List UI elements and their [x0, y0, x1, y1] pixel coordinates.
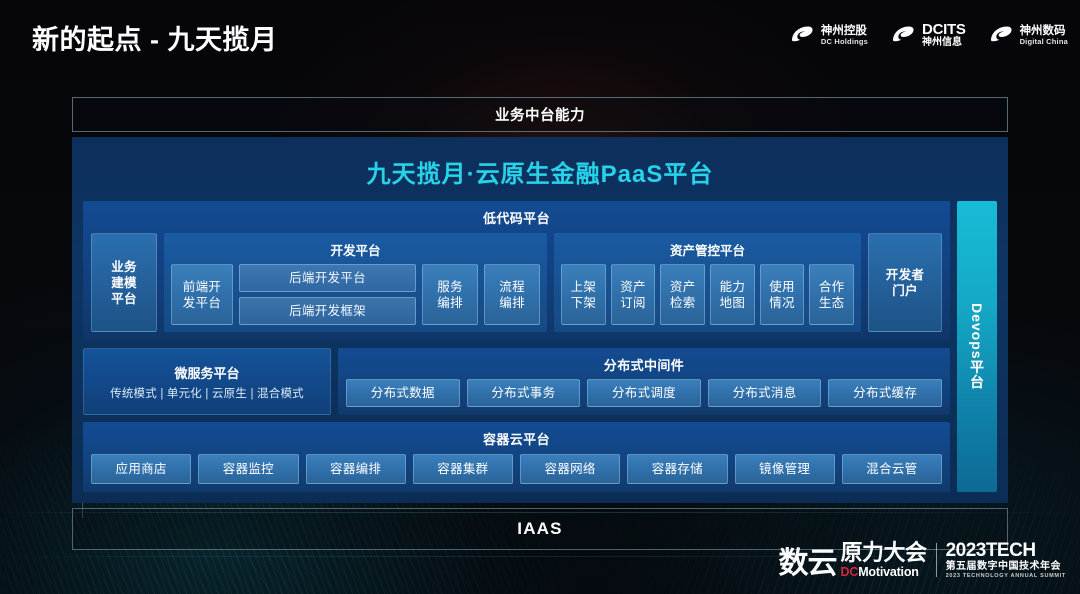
logo-row: 神州控股 DC Holdings DCITS 神州信息 神州数码 Digital… — [789, 22, 1068, 49]
conference-divider — [936, 543, 937, 577]
paas-left-stack: 低代码平台 业务 建模 平台 开发平台 — [83, 201, 950, 492]
card-usage-status[interactable]: 使用 情况 — [760, 264, 805, 325]
card-business-modeling-platform[interactable]: 业务 建模 平台 — [91, 233, 157, 332]
card-line: 发平台 — [183, 296, 221, 310]
card-line: 资产 — [620, 280, 646, 294]
card-line: 生态 — [819, 296, 845, 310]
card-container-monitoring[interactable]: 容器监控 — [198, 454, 298, 484]
card-asset-search[interactable]: 资产 检索 — [660, 264, 705, 325]
conference-logo-main: 数云 原力大会 DCMotivation — [779, 542, 927, 579]
backend-card-column: 后端开发平台 后端开发框架 — [239, 264, 416, 325]
card-line: 门户 — [892, 284, 918, 298]
microservice-platform-block[interactable]: 微服务平台 传统模式 | 单元化 | 云原生 | 混合模式 — [83, 348, 331, 415]
logo-label-cn: 神州数码 — [1020, 25, 1068, 37]
slide-header: 新的起点 - 九天揽月 神州控股 DC Holdings DCITS 神州信息 — [0, 0, 1080, 70]
card-image-management[interactable]: 镜像管理 — [735, 454, 835, 484]
card-line: 检索 — [670, 296, 696, 310]
conference-summit-block: 2023TECH 第五届数字中国技术年会 2023 TECHNOLOGY ANN… — [946, 541, 1066, 580]
page-title: 新的起点 - 九天揽月 — [32, 18, 278, 57]
card-line: 流程 — [499, 280, 525, 294]
lowcode-inner-row: 业务 建模 平台 开发平台 前端开 发平 — [91, 233, 942, 332]
card-container-storage[interactable]: 容器存储 — [627, 454, 727, 484]
conference-name-en: DCMotivation — [841, 566, 927, 579]
card-capability-map[interactable]: 能力 地图 — [710, 264, 755, 325]
card-line: 编排 — [499, 296, 525, 310]
card-line: 地图 — [720, 296, 746, 310]
paas-platform-title: 九天揽月·云原生金融PaaS平台 — [83, 147, 997, 201]
card-distributed-scheduling[interactable]: 分布式调度 — [587, 379, 701, 407]
card-frontend-dev-platform[interactable]: 前端开 发平台 — [171, 264, 233, 325]
card-line: 下架 — [571, 296, 597, 310]
card-developer-portal[interactable]: 开发者 门户 — [868, 233, 942, 332]
logo-label-en: DC Holdings — [821, 38, 868, 46]
container-cloud-cards: 应用商店 容器监控 容器编排 容器集群 容器网络 容器存储 镜像管理 混合云管 — [91, 454, 942, 484]
card-line: 编排 — [437, 296, 463, 310]
logo-label-en: DCITS — [922, 22, 966, 38]
card-line: 上架 — [571, 280, 597, 294]
paas-body-row: 低代码平台 业务 建模 平台 开发平台 — [83, 201, 997, 492]
card-line: 情况 — [769, 296, 795, 310]
dev-platform-group: 开发平台 前端开 发平台 后端开发平台 — [164, 233, 547, 332]
conference-year-tech: 2023TECH — [946, 541, 1066, 561]
card-line: 资产 — [670, 280, 696, 294]
conference-summit-en: 2023 TECHNOLOGY ANNUAL SUMMIT — [946, 574, 1066, 580]
asset-management-cards: 上架 下架 资产 订阅 — [561, 264, 854, 325]
card-asset-listing[interactable]: 上架 下架 — [561, 264, 606, 325]
logo-dcits: DCITS 神州信息 — [890, 22, 966, 49]
middle-row: 微服务平台 传统模式 | 单元化 | 云原生 | 混合模式 分布式中间件 分布式… — [83, 348, 950, 415]
card-line: 业务 — [111, 260, 137, 274]
card-distributed-messaging[interactable]: 分布式消息 — [708, 379, 822, 407]
card-line: 合作 — [819, 280, 845, 294]
card-line: 能力 — [720, 280, 746, 294]
devops-platform-bar[interactable]: Devops平台 — [957, 201, 997, 492]
middleware-title: 分布式中间件 — [346, 353, 942, 379]
conference-logo: 数云 原力大会 DCMotivation 2023TECH 第五届数字中国技术年… — [779, 541, 1066, 580]
conference-summit-cn: 第五届数字中国技术年会 — [946, 562, 1066, 573]
asset-management-group: 资产管控平台 上架 下架 资产 — [554, 233, 861, 332]
conference-name-en-dc: DC — [841, 565, 859, 579]
card-backend-dev-platform[interactable]: 后端开发平台 — [239, 264, 416, 292]
card-line: 使用 — [769, 280, 795, 294]
devops-platform-label: Devops平台 — [967, 303, 987, 390]
microservice-platform-modes: 传统模式 | 单元化 | 云原生 | 混合模式 — [110, 385, 304, 401]
lowcode-platform-title: 低代码平台 — [91, 208, 942, 227]
card-container-cluster[interactable]: 容器集群 — [413, 454, 513, 484]
card-container-network[interactable]: 容器网络 — [520, 454, 620, 484]
card-line: 开发者 — [886, 268, 924, 282]
middleware-section: 分布式中间件 分布式数据 分布式事务 分布式调度 分布式消息 分布式缓存 — [338, 348, 950, 415]
card-line: 建模 — [111, 276, 137, 290]
logo-label-cn: 神州控股 — [821, 25, 868, 37]
card-line: 订阅 — [620, 296, 646, 310]
swoosh-icon — [988, 24, 1014, 46]
card-container-orchestration[interactable]: 容器编排 — [306, 454, 406, 484]
conference-brand-stack: 原力大会 DCMotivation — [841, 542, 927, 579]
card-distributed-transaction[interactable]: 分布式事务 — [467, 379, 581, 407]
logo-digital-china: 神州数码 Digital China — [988, 24, 1068, 46]
paas-platform-panel: 九天揽月·云原生金融PaaS平台 低代码平台 业务 建模 平台 — [72, 137, 1008, 503]
logo-label-en: Digital China — [1020, 38, 1068, 46]
card-distributed-data[interactable]: 分布式数据 — [346, 379, 460, 407]
capability-band: 业务中台能力 — [72, 97, 1008, 132]
card-line: 服务 — [437, 280, 463, 294]
logo-label-cn: 神州信息 — [922, 38, 966, 49]
card-line: 前端开 — [183, 280, 221, 294]
card-asset-subscription[interactable]: 资产 订阅 — [611, 264, 656, 325]
card-hybrid-cloud-management[interactable]: 混合云管 — [842, 454, 942, 484]
card-partner-ecosystem[interactable]: 合作 生态 — [809, 264, 854, 325]
dev-platform-cards: 前端开 发平台 后端开发平台 后端开发框架 — [171, 264, 540, 325]
container-cloud-section: 容器云平台 应用商店 容器监控 容器编排 容器集群 容器网络 容器存储 镜像管理… — [83, 422, 950, 492]
card-service-orchestration[interactable]: 服务 编排 — [422, 264, 478, 325]
middleware-cards: 分布式数据 分布式事务 分布式调度 分布式消息 分布式缓存 — [346, 379, 942, 407]
conference-brand-cn: 数云 — [779, 550, 837, 579]
logo-dc-holdings: 神州控股 DC Holdings — [789, 24, 868, 46]
swoosh-icon — [789, 24, 815, 46]
card-app-store[interactable]: 应用商店 — [91, 454, 191, 484]
architecture-diagram: 业务中台能力 九天揽月·云原生金融PaaS平台 低代码平台 业务 建模 平台 — [72, 97, 1008, 550]
card-distributed-cache[interactable]: 分布式缓存 — [828, 379, 942, 407]
asset-management-title: 资产管控平台 — [561, 238, 854, 264]
swoosh-icon — [890, 24, 916, 46]
dev-platform-title: 开发平台 — [171, 238, 540, 264]
conference-name-en-word: Motivation — [858, 565, 919, 579]
microservice-platform-title: 微服务平台 — [174, 363, 239, 382]
card-process-orchestration[interactable]: 流程 编排 — [484, 264, 540, 325]
lowcode-platform-section: 低代码平台 业务 建模 平台 开发平台 — [83, 201, 950, 341]
conference-name-cn: 原力大会 — [841, 542, 927, 564]
container-cloud-title: 容器云平台 — [91, 427, 942, 454]
card-line: 平台 — [111, 292, 137, 306]
card-backend-dev-framework[interactable]: 后端开发框架 — [239, 297, 416, 325]
